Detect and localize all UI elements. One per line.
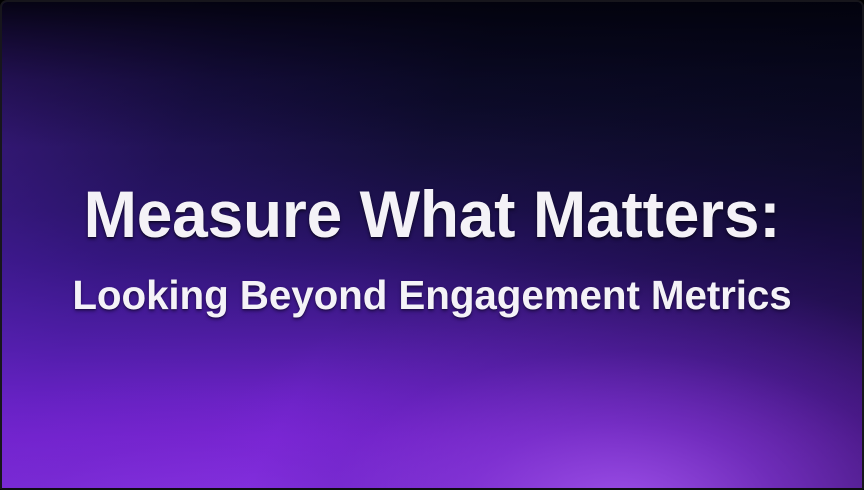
slide-text-block: Measure What Matters: Looking Beyond Eng… <box>2 178 862 318</box>
slide-title: Measure What Matters: <box>15 178 849 250</box>
slide-subtitle: Looking Beyond Engagement Metrics <box>8 250 855 318</box>
title-slide: Measure What Matters: Looking Beyond Eng… <box>0 0 864 490</box>
